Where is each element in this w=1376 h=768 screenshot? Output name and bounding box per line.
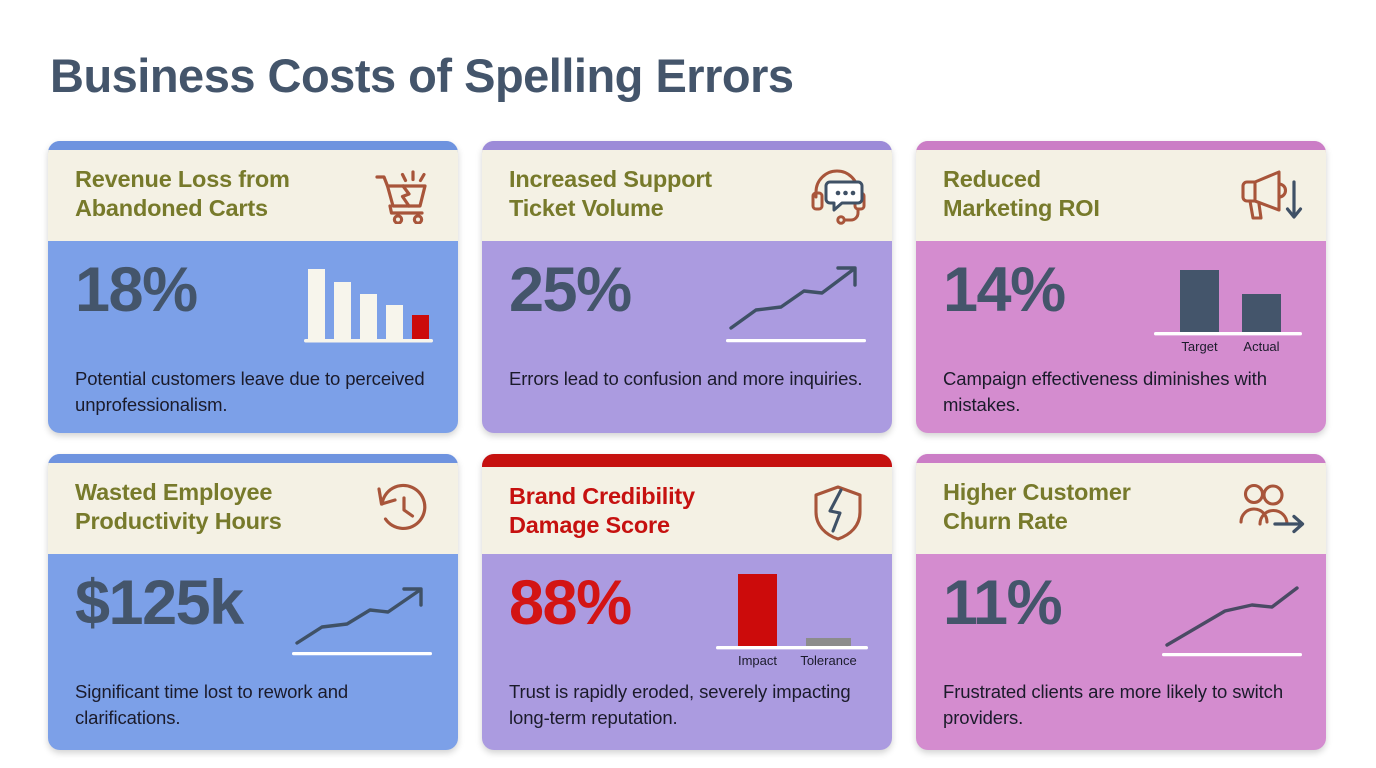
- card-accent-bar: [916, 141, 1326, 150]
- card-stat-row: 18%: [75, 258, 434, 362]
- card-title: Wasted Employee Productivity Hours: [75, 476, 282, 536]
- card-wasted-employee-productivity-hours[interactable]: Wasted Employee Productivity Hours $1: [48, 454, 458, 750]
- card-stat-value: 18%: [75, 258, 197, 322]
- card-title-line-1: Brand Credibility: [509, 482, 695, 511]
- headset-support-icon: [802, 163, 874, 225]
- card-stat-value: $125k: [75, 571, 243, 635]
- card-header: Reduced Marketing ROI: [916, 150, 1326, 241]
- people-leaving-arrow-icon: [1236, 476, 1308, 538]
- rising-arrow-line-chart: [292, 571, 434, 670]
- card-title-line-2: Marketing ROI: [943, 194, 1100, 223]
- card-title-line-2: Damage Score: [509, 511, 695, 540]
- mini-chart-label-tolerance: Tolerance: [800, 653, 856, 668]
- card-description: Errors lead to confusion and more inquir…: [509, 362, 868, 392]
- card-body: 14% Target Actual Campaign effectiveness…: [916, 241, 1326, 433]
- card-higher-customer-churn-rate[interactable]: Higher Customer Churn Rate: [916, 454, 1326, 750]
- card-stat-row: $125k: [75, 571, 434, 675]
- mini-chart-label-impact: Impact: [738, 653, 777, 668]
- card-title-line-2: Abandoned Carts: [75, 194, 290, 223]
- page-title: Business Costs of Spelling Errors: [50, 48, 794, 103]
- card-title: Increased Support Ticket Volume: [509, 163, 712, 223]
- card-body: $125k Significant time lost to rework an…: [48, 554, 458, 750]
- card-body: 88% Impact Tolerance Trust is rapidly er…: [482, 554, 892, 750]
- card-description: Frustrated clients are more likely to sw…: [943, 675, 1302, 730]
- card-description: Campaign effectiveness diminishes with m…: [943, 362, 1302, 417]
- card-stat-value: 14%: [943, 258, 1065, 322]
- card-title-line-1: Higher Customer: [943, 478, 1131, 507]
- card-stat-value: 88%: [509, 571, 631, 635]
- card-stat-row: 88% Impact Tolerance: [509, 571, 868, 679]
- card-accent-bar: [916, 454, 1326, 463]
- cracked-shield-icon: [802, 480, 874, 542]
- card-title-line-1: Reduced: [943, 165, 1100, 194]
- mini-chart-label-actual: Actual: [1243, 339, 1279, 354]
- card-title-line-2: Churn Rate: [943, 507, 1131, 536]
- card-description: Significant time lost to rework and clar…: [75, 675, 434, 730]
- card-title-line-1: Wasted Employee: [75, 478, 282, 507]
- card-title: Brand Credibility Damage Score: [509, 480, 695, 540]
- card-description: Potential customers leave due to perceiv…: [75, 362, 434, 417]
- card-accent-bar: [482, 454, 892, 467]
- card-header: Higher Customer Churn Rate: [916, 463, 1326, 554]
- card-title-line-2: Productivity Hours: [75, 507, 282, 536]
- card-accent-bar: [48, 454, 458, 463]
- card-header: Increased Support Ticket Volume: [482, 150, 892, 241]
- card-title: Revenue Loss from Abandoned Carts: [75, 163, 290, 223]
- declining-bars-chart: [304, 258, 434, 354]
- card-stat-row: 25%: [509, 258, 868, 362]
- card-header: Brand Credibility Damage Score: [482, 467, 892, 554]
- card-header: Wasted Employee Productivity Hours: [48, 463, 458, 554]
- infographic-page: Business Costs of Spelling Errors Revenu…: [0, 0, 1376, 768]
- card-stat-row: 14% Target Actual: [943, 258, 1302, 362]
- card-accent-bar: [482, 141, 892, 150]
- card-title: Higher Customer Churn Rate: [943, 476, 1131, 536]
- card-body: 18% Potential customers leave due to per…: [48, 241, 458, 433]
- card-header: Revenue Loss from Abandoned Carts: [48, 150, 458, 241]
- card-increased-support-ticket-volume[interactable]: Increased Support Ticket Volume: [482, 141, 892, 433]
- impact-tolerance-bars-chart: Impact Tolerance: [716, 571, 868, 674]
- card-stat-value: 11%: [943, 571, 1061, 635]
- target-actual-bars-chart: Target Actual: [1154, 258, 1302, 360]
- card-title: Reduced Marketing ROI: [943, 163, 1100, 223]
- card-accent-bar: [48, 141, 458, 150]
- card-stat-row: 11%: [943, 571, 1302, 675]
- card-reduced-marketing-roi[interactable]: Reduced Marketing ROI: [916, 141, 1326, 433]
- clock-rewind-icon: [368, 476, 440, 538]
- card-revenue-loss-abandoned-carts[interactable]: Revenue Loss from Abandoned Carts: [48, 141, 458, 433]
- cards-grid: Revenue Loss from Abandoned Carts: [48, 141, 1328, 750]
- rising-arrow-line-chart: [726, 258, 868, 354]
- rising-line-chart: [1162, 571, 1302, 670]
- card-title-line-1: Increased Support: [509, 165, 712, 194]
- card-brand-credibility-damage-score[interactable]: Brand Credibility Damage Score: [482, 454, 892, 750]
- card-stat-value: 25%: [509, 258, 631, 322]
- card-body: 11% Frustrated clients are more likely t…: [916, 554, 1326, 750]
- card-body: 25% Errors lead to confusion and more in…: [482, 241, 892, 433]
- mini-chart-label-target: Target: [1181, 339, 1218, 354]
- card-description: Trust is rapidly eroded, severely impact…: [509, 679, 868, 730]
- card-title-line-2: Ticket Volume: [509, 194, 712, 223]
- megaphone-down-arrow-icon: [1236, 163, 1308, 225]
- broken-shopping-cart-icon: [368, 163, 440, 225]
- card-title-line-1: Revenue Loss from: [75, 165, 290, 194]
